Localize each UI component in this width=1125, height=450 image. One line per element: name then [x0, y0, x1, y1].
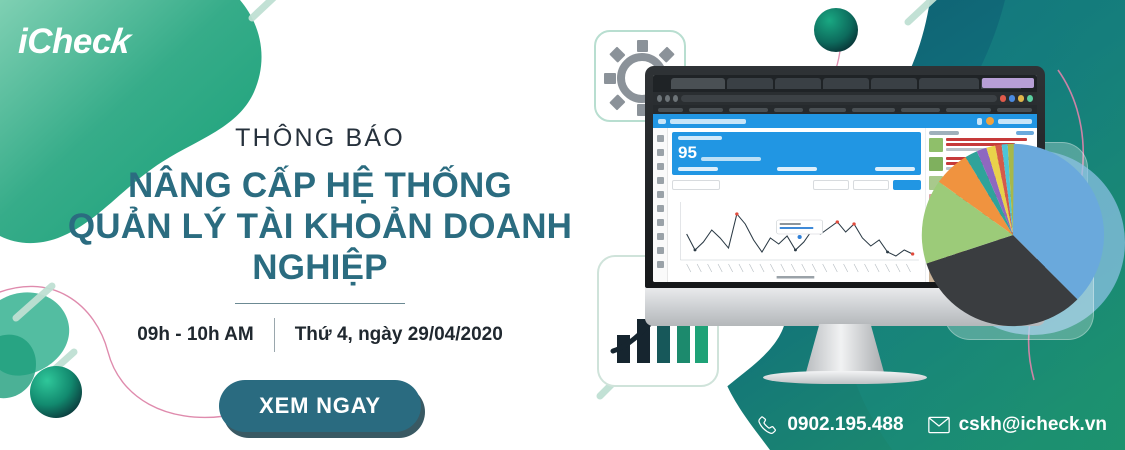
sidebar-icon[interactable]	[657, 191, 664, 198]
app-sidebar[interactable]	[653, 128, 668, 282]
headline: NÂNG CẤP HỆ THỐNG QUẢN LÝ TÀI KHOẢN DOAN…	[20, 165, 620, 289]
bookmark-item	[658, 108, 683, 112]
promo-banner: iCheck	[0, 0, 1125, 450]
bookmark-item	[689, 108, 722, 112]
browser-tab[interactable]	[727, 78, 773, 89]
sidebar-icon[interactable]	[657, 261, 664, 268]
extension-icon	[1000, 95, 1006, 102]
phone-contact[interactable]: 0902.195.488	[757, 414, 903, 436]
pane-title	[929, 131, 959, 135]
extension-icon	[1009, 95, 1015, 102]
bookmark-item	[809, 108, 846, 112]
kpi-card: 95	[672, 132, 921, 175]
phone-number: 0902.195.488	[787, 414, 903, 436]
monitor-stand-base	[763, 371, 927, 384]
kpi-tab[interactable]	[678, 167, 718, 171]
kpi-tab-row[interactable]	[678, 167, 915, 171]
date-from-input[interactable]	[813, 180, 849, 190]
browser-address-bar[interactable]	[653, 92, 1037, 105]
event-time: 09h - 10h AM	[137, 324, 254, 346]
kpi-value: 95	[678, 144, 697, 161]
pane-action[interactable]	[1016, 131, 1034, 135]
browser-tab[interactable]	[919, 78, 979, 89]
sidebar-icon[interactable]	[657, 177, 664, 184]
sidebar-icon[interactable]	[657, 247, 664, 254]
email-contact[interactable]: cskh@icheck.vn	[928, 414, 1107, 436]
sidebar-icon[interactable]	[657, 205, 664, 212]
email-address: cskh@icheck.vn	[959, 414, 1107, 436]
nav-back-icon	[657, 95, 662, 102]
kicker-label: THÔNG BÁO	[20, 125, 620, 153]
bookmark-item	[852, 108, 895, 112]
line-chart	[672, 194, 921, 280]
envelope-icon	[928, 416, 950, 434]
divider-rule	[235, 303, 405, 304]
notification-icon[interactable]	[977, 118, 982, 125]
monitor-stand-neck	[805, 324, 885, 376]
logo-mark: k	[108, 22, 133, 62]
reload-icon	[673, 95, 678, 102]
sidebar-icon[interactable]	[657, 163, 664, 170]
browser-tab[interactable]	[775, 78, 821, 89]
meta-divider	[274, 318, 275, 352]
view-now-button[interactable]: XEM NGAY	[219, 380, 421, 432]
pane-header	[929, 131, 1034, 135]
pie-chart-overlay	[918, 140, 1108, 330]
logo-text: iChec	[18, 22, 111, 61]
nav-forward-icon	[665, 95, 670, 102]
kpi-tab[interactable]	[875, 167, 915, 171]
dashboard-main-pane: 95	[668, 128, 925, 282]
kpi-caption	[701, 157, 761, 161]
bookmark-item	[729, 108, 768, 112]
sidebar-icon[interactable]	[657, 219, 664, 226]
bookmarks-bar[interactable]	[653, 105, 1037, 114]
brand-logo[interactable]: iCheck	[18, 22, 130, 62]
user-name[interactable]	[998, 119, 1032, 124]
bookmark-item	[946, 108, 991, 112]
sidebar-icon[interactable]	[657, 135, 664, 142]
bookmark-item	[901, 108, 940, 112]
announcement-block: THÔNG BÁO NÂNG CẤP HỆ THỐNG QUẢN LÝ TÀI …	[20, 125, 620, 432]
phone-icon	[757, 415, 778, 436]
contact-bar: 0902.195.488 cskh@icheck.vn	[757, 414, 1107, 436]
app-title	[670, 119, 746, 124]
app-menu-icon[interactable]	[658, 119, 666, 124]
app-header-bar	[653, 114, 1037, 128]
apply-filter-button[interactable]	[893, 180, 921, 190]
sidebar-icon[interactable]	[657, 149, 664, 156]
headline-line-2: QUẢN LÝ TÀI KHOẢN DOANH NGHIỆP	[20, 206, 620, 289]
extension-icon	[1018, 95, 1024, 102]
kpi-tab[interactable]	[777, 167, 817, 171]
profile-avatar	[1027, 95, 1033, 102]
event-meta: 09h - 10h AM Thứ 4, ngày 29/04/2020	[20, 318, 620, 352]
sidebar-icon[interactable]	[657, 233, 664, 240]
browser-tab[interactable]	[823, 78, 869, 89]
window-controls[interactable]	[982, 78, 1034, 88]
user-avatar[interactable]	[986, 117, 994, 125]
bookmark-item	[774, 108, 803, 112]
event-date: Thứ 4, ngày 29/04/2020	[295, 324, 503, 346]
browser-tab-strip	[653, 75, 1037, 92]
date-to-input[interactable]	[853, 180, 889, 190]
filter-select[interactable]	[672, 180, 720, 190]
filter-row[interactable]	[672, 180, 921, 190]
bookmark-item	[997, 108, 1032, 112]
browser-tab[interactable]	[671, 78, 725, 89]
browser-tab[interactable]	[871, 78, 917, 89]
pie-chart	[918, 140, 1108, 330]
url-text	[681, 95, 997, 102]
headline-line-1: NÂNG CẤP HỆ THỐNG	[20, 165, 620, 206]
